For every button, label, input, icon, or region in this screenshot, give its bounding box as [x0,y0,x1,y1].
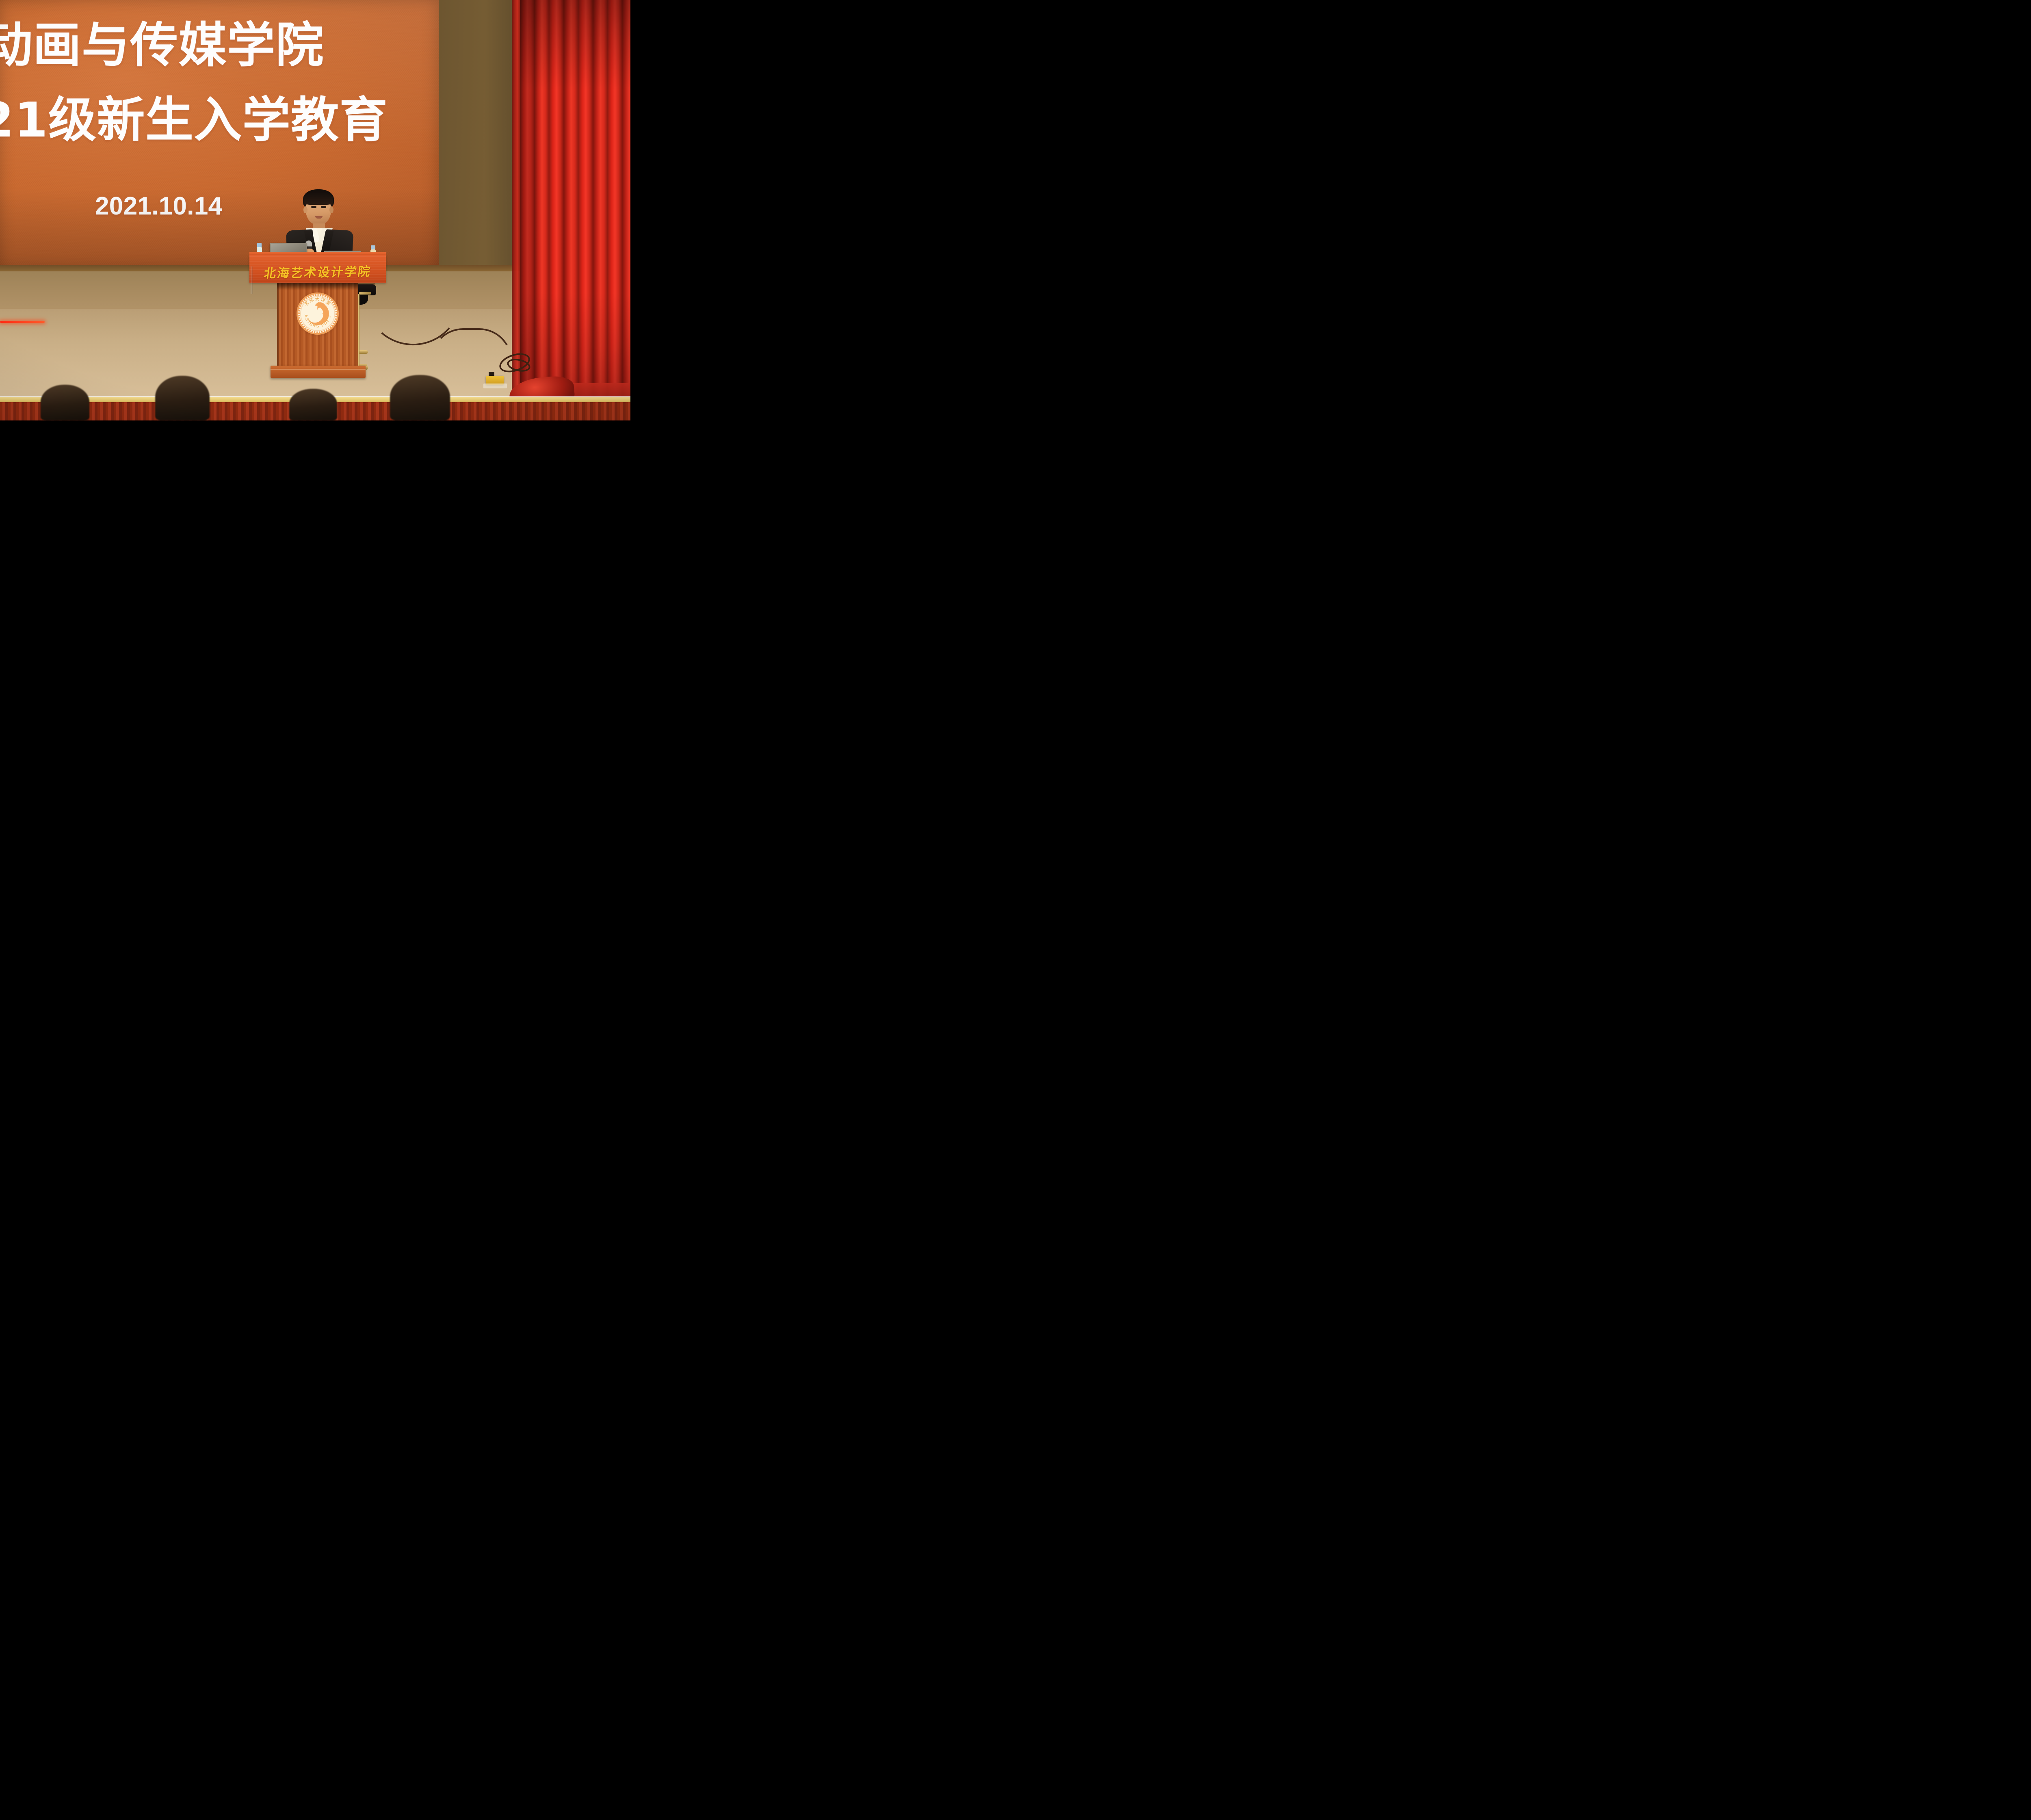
speaker-eyebrow-right [320,203,327,205]
speaker-ear-left [303,206,307,213]
podium-base-highlight [271,369,366,370]
slide-title-line-2: 21级新生入学教育 [0,96,388,144]
laser-marker-icon [0,321,45,323]
podium: 北海艺术设计学院 名师大讲堂 MASTERS FORUM [249,244,386,384]
slide-text-block: 动画与传媒学院 21级新生入学教育 2021.10.14 [0,0,439,271]
audience-head [390,375,450,420]
auditorium-lecture-photo: 动画与传媒学院 21级新生入学教育 2021.10.14 [0,0,630,420]
power-strip-base [483,383,507,388]
projection-screen: 动画与传媒学院 21级新生入学教育 2021.10.14 [0,0,439,271]
speaker-eye-left [311,206,316,208]
audience-head [41,385,89,420]
slide-date: 2021.10.14 [95,192,222,221]
speaker-eyebrow-left [310,203,317,205]
speaker-hair-front [304,193,333,205]
podium-base [271,366,366,378]
stage-curtain-right [520,0,630,406]
speaker-ear-right [329,206,333,213]
podium-body-shadow [277,283,358,290]
masters-forum-emblem: 名师大讲堂 MASTERS FORUM [298,294,337,333]
audience-head [155,376,210,420]
slide-title-line-1: 动画与传媒学院 [0,21,324,69]
podium-banner-text: 北海艺术设计学院 [248,261,387,282]
speaker-eye-right [321,206,326,208]
audience-head [289,389,337,420]
